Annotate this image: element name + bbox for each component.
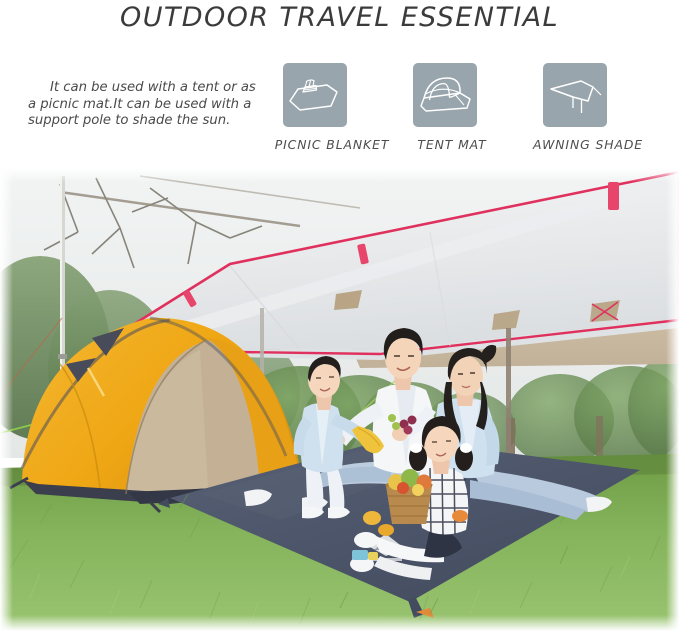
feature-item-tent-mat[interactable]: TENT MAT [396,63,508,152]
feature-item-picnic-blanket[interactable]: PICNIC BLANKET [268,63,396,152]
description-text: It can be used with a tent or as a picni… [28,80,256,130]
picnic-blanket-icon [283,63,347,127]
feature-icon-box [543,63,607,127]
feature-label: PICNIC BLANKET [268,137,396,152]
photo-scene [0,168,679,631]
feature-label: AWNING SHADE [508,137,668,152]
header-block: OUTDOOR TRAVEL ESSENTIAL It can be used … [0,0,679,168]
feature-item-awning-shade[interactable]: AWNING SHADE [508,63,668,152]
product-photo [0,168,679,631]
feature-label: TENT MAT [396,137,508,152]
campsite-scene-illustration [0,168,679,631]
tent-icon [413,63,477,127]
awning-shade-icon [543,63,607,127]
feature-icon-box [413,63,477,127]
product-infographic-page: OUTDOOR TRAVEL ESSENTIAL It can be used … [0,0,679,631]
feature-icon-box [283,63,347,127]
page-title: OUTDOOR TRAVEL ESSENTIAL [0,2,679,33]
feature-row: PICNIC BLANKET [268,63,668,163]
